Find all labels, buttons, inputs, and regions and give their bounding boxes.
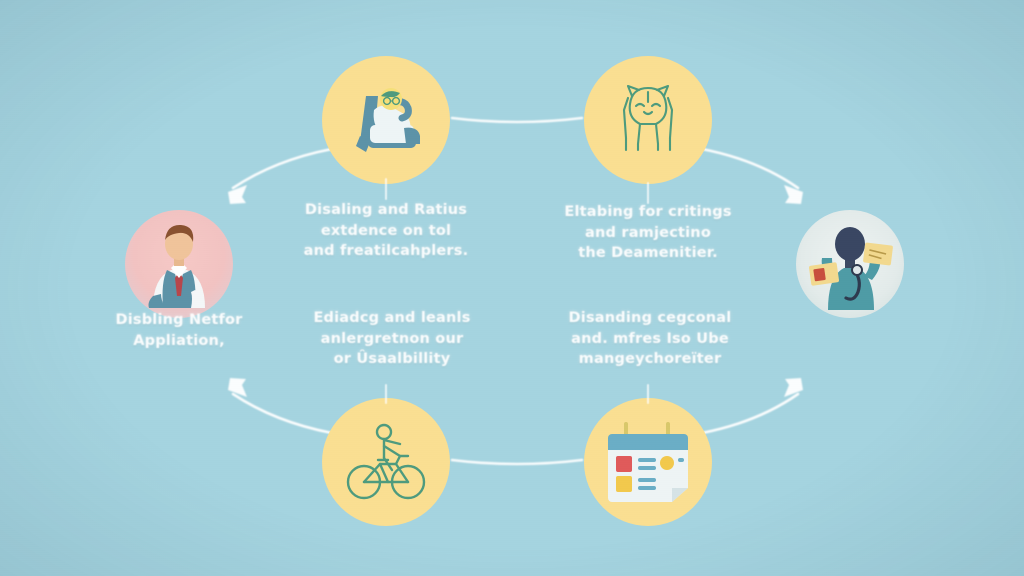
- arrowhead-down-left: [228, 185, 247, 204]
- caption-tick-top-left: [385, 178, 387, 200]
- person-reclining-in-chair-icon: [336, 70, 436, 170]
- node-left[interactable]: [125, 210, 233, 318]
- arrowhead-down-right: [784, 185, 803, 204]
- connector-top-right-to-right: [702, 149, 798, 188]
- connector-bottom-left-to-left: [233, 394, 332, 433]
- doctor-with-cards-icon: [800, 214, 900, 314]
- cyclist-on-bicycle-icon: [340, 416, 432, 508]
- node-top-right[interactable]: [584, 56, 712, 184]
- arrowhead-up-right: [784, 378, 803, 397]
- infographic-canvas: Disaling and Ratius extdence on tol and …: [0, 0, 1024, 576]
- caption-tick-top-right: [647, 182, 649, 204]
- caption-tick-bottom-right: [647, 384, 649, 404]
- caption-middle-right: Disanding cegconal and. mfres Iso Ube ma…: [550, 308, 750, 370]
- node-bottom-left[interactable]: [322, 398, 450, 526]
- calendar-document-icon: [600, 414, 696, 510]
- cat-figure-icon: [606, 78, 690, 162]
- node-right[interactable]: [796, 210, 904, 318]
- caption-middle-center: Ediadcg and leanls anlergretnon our or Û…: [292, 308, 492, 370]
- node-bottom-right[interactable]: [584, 398, 712, 526]
- connector-top-horizontal: [452, 118, 582, 122]
- connector-bottom-horizontal: [452, 460, 582, 464]
- caption-tick-bottom-left: [385, 384, 387, 404]
- caption-middle-left: Disbling Netfor Appliation,: [79, 310, 279, 351]
- node-top-left[interactable]: [322, 56, 450, 184]
- person-in-vest-and-tie-icon: [131, 216, 227, 312]
- caption-top-right: Eltabing for critings and ramjectino the…: [548, 202, 748, 264]
- caption-top-left: Disaling and Ratius extdence on tol and …: [286, 200, 486, 262]
- connector-top-left-to-left: [233, 149, 332, 188]
- connector-bottom-right-to-right: [702, 394, 798, 433]
- arrowhead-up-left: [228, 378, 247, 397]
